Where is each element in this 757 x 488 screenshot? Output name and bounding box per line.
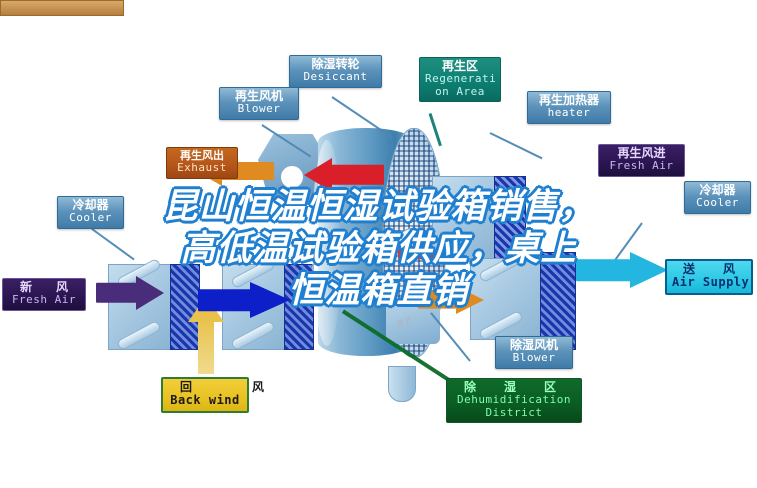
label-dehum-blower: 除湿风机 Blower — [495, 336, 573, 369]
dehumidifier-diagram: xf 昆山恒温恒湿试验箱销售， 高低温试验箱供应，桌上 恒温箱直销 除湿转轮 D… — [0, 0, 757, 488]
label-dehum-blower-cn: 除湿风机 — [501, 339, 567, 352]
label-regen-heater-en: heater — [533, 107, 605, 119]
label-regen-blower: 再生风机 Blower — [219, 87, 299, 120]
label-dehum-district-en1: Dehumidification — [452, 394, 576, 406]
label-exhaust: 再生风出 Exhaust — [166, 147, 238, 179]
promo-watermark: 昆山恒温恒湿试验箱销售， 高低温试验箱供应，桌上 恒温箱直销 — [0, 186, 757, 312]
label-back-wind: 回 风 Back wind — [161, 377, 249, 413]
label-regen-blower-cn: 再生风机 — [225, 90, 293, 103]
label-back-wind-cn: 回 风 — [168, 381, 242, 394]
discharge-duct — [388, 366, 416, 402]
label-back-wind-en: Back wind — [168, 394, 242, 407]
label-regen-blower-en: Blower — [225, 103, 293, 115]
label-regen-fresh-air-en: Fresh Air — [604, 160, 679, 172]
label-desiccant-cn: 除湿转轮 — [295, 58, 376, 71]
label-regen-fresh-air-cn: 再生风进 — [604, 147, 679, 160]
label-desiccant: 除湿转轮 Desiccant — [289, 55, 382, 88]
label-dehum-blower-en: Blower — [501, 352, 567, 364]
faint-watermark: xf — [396, 316, 412, 331]
promo-line-3: 恒温箱直销 — [0, 270, 757, 312]
label-desiccant-en: Desiccant — [295, 71, 376, 83]
label-exhaust-en: Exhaust — [172, 162, 232, 174]
leader-regen-area — [429, 113, 442, 146]
leader-heater — [490, 132, 543, 159]
label-regen-area: 再生区 Regenerati on Area — [419, 57, 501, 102]
label-dehum-district: 除 湿 区 Dehumidification District — [446, 378, 582, 423]
label-regen-heater-cn: 再生加热器 — [533, 94, 605, 107]
label-regen-fresh-air: 再生风进 Fresh Air — [598, 144, 685, 177]
label-dehum-district-en2: District — [452, 407, 576, 419]
heater-base-plate — [0, 0, 124, 16]
label-regen-heater: 再生加热器 heater — [527, 91, 611, 124]
label-regen-area-en2: on Area — [425, 86, 495, 98]
promo-line-2: 高低温试验箱供应，桌上 — [0, 228, 757, 270]
label-dehum-district-cn: 除 湿 区 — [452, 381, 576, 394]
label-regen-area-en1: Regenerati — [425, 73, 495, 85]
promo-line-1: 昆山恒温恒湿试验箱销售， — [0, 186, 757, 228]
label-regen-area-cn: 再生区 — [425, 60, 495, 73]
